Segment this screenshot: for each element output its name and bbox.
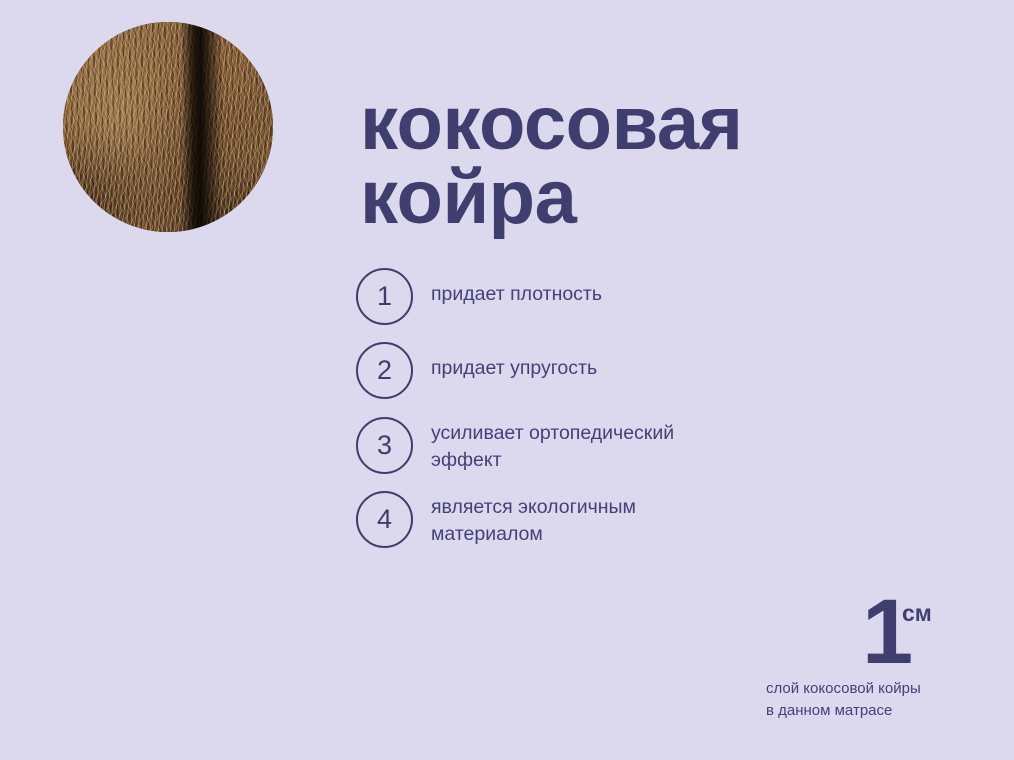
list-item: 2 придает упругость xyxy=(356,342,597,399)
thickness-value-group: 1 см xyxy=(766,592,966,674)
infographic-slide: кокосовая койра 1 придает плотность 2 пр… xyxy=(0,0,1014,760)
title-line-1: кокосовая xyxy=(360,87,960,161)
thickness-callout: 1 см слой кокосовой койры в данном матра… xyxy=(766,592,966,722)
feature-text: усиливает ортопедический эффект xyxy=(431,417,674,474)
feature-line-1: придает плотность xyxy=(431,281,602,308)
badge-number: 2 xyxy=(356,342,413,399)
feature-line-1: придает упругость xyxy=(431,355,597,382)
feature-text: является экологичным материалом xyxy=(431,491,636,548)
feature-line-1: является экологичным xyxy=(431,494,636,521)
title-line-2: койра xyxy=(360,161,960,235)
badge-number: 4 xyxy=(356,491,413,548)
feature-line-2: эффект xyxy=(431,447,674,474)
feature-text: придает плотность xyxy=(431,268,602,308)
list-item: 3 усиливает ортопедический эффект xyxy=(356,417,674,474)
caption-line-2: в данном матрасе xyxy=(766,700,966,722)
thickness-unit: см xyxy=(902,602,932,625)
list-item: 1 придает плотность xyxy=(356,268,602,325)
badge-number: 1 xyxy=(356,268,413,325)
feature-line-2: материалом xyxy=(431,521,636,548)
feature-text: придает упругость xyxy=(431,342,597,382)
feature-line-1: усиливает ортопедический xyxy=(431,420,674,447)
list-item: 4 является экологичным материалом xyxy=(356,491,636,548)
coconut-coir-photo xyxy=(63,22,273,232)
coir-texture-image xyxy=(63,22,273,232)
badge-number: 3 xyxy=(356,417,413,474)
thickness-caption: слой кокосовой койры в данном матрасе xyxy=(766,678,966,722)
page-title: кокосовая койра xyxy=(360,87,960,234)
